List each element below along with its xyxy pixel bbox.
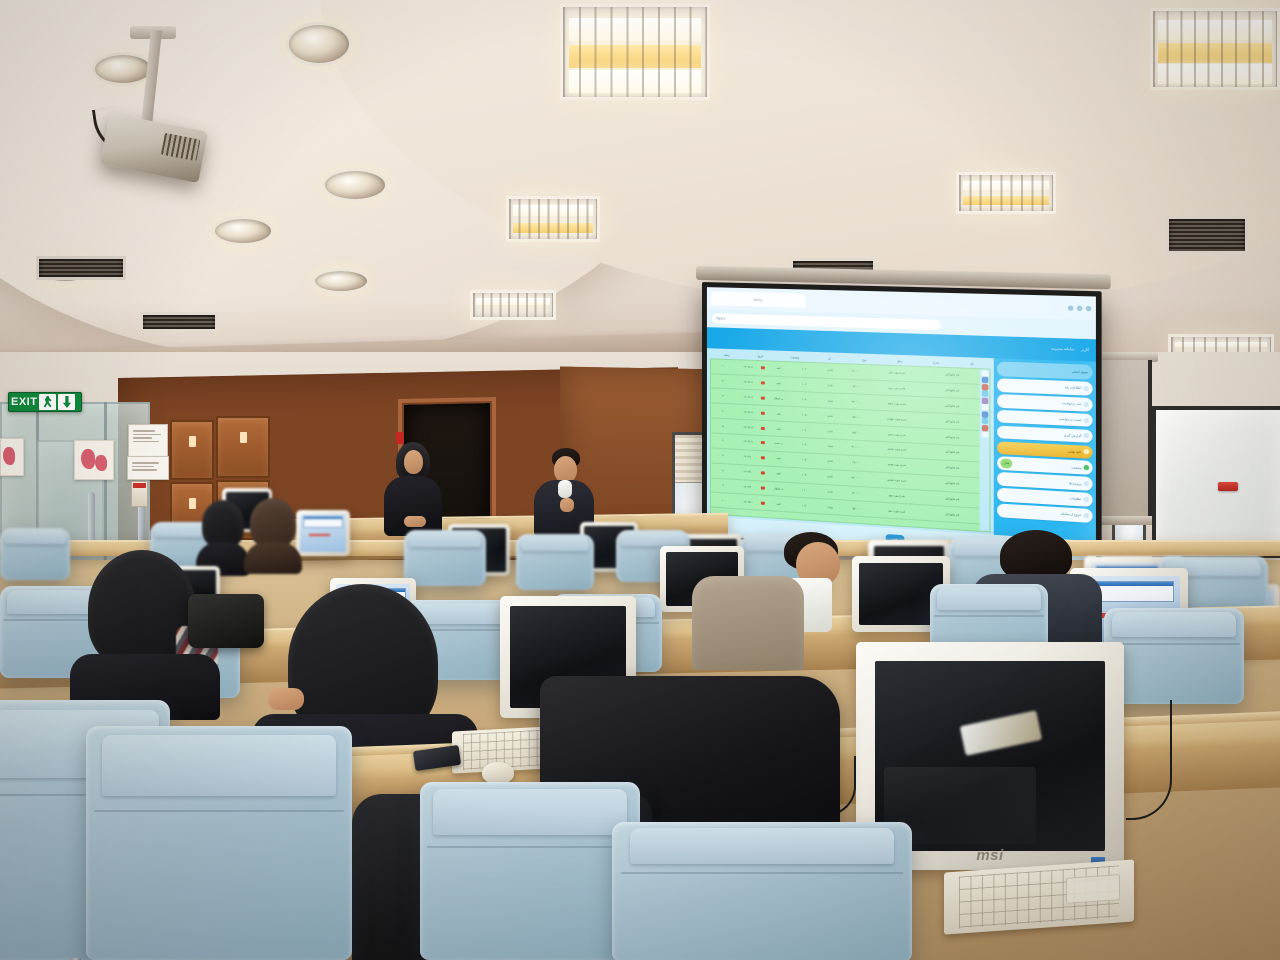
presenter-man-face <box>554 456 577 483</box>
downlight-4 <box>212 216 274 246</box>
history-icon[interactable] <box>981 418 988 425</box>
mouse-center[interactable] <box>482 762 514 784</box>
browser-window-controls[interactable] <box>1068 305 1092 311</box>
app-body: ردیفتاریخوضعیتکدنوعمبلغشرحنام ۱۱۴۰۲/۰۸تا… <box>707 348 1096 542</box>
table-cell: ۱۱۰ <box>792 488 817 493</box>
sidebar-button-icon <box>1084 386 1090 392</box>
chair-back-1[interactable] <box>404 530 486 586</box>
table-cell: شرح مورد اول <box>870 371 924 376</box>
sidebar-button-label: پرونده ها <box>1069 481 1081 486</box>
sidebar-buttons[interactable]: اطلاعات پایهثبت درخواستلیست درخواستگزارش… <box>997 378 1092 541</box>
row-action-icon-column[interactable] <box>980 369 990 532</box>
ceiling-light-panel-5 <box>470 290 556 320</box>
sidebar-button-label: اطلاعات پایه <box>1064 385 1081 390</box>
table-column-header[interactable]: کد <box>813 356 846 361</box>
table-cell: ۱ <box>711 365 735 369</box>
table-cell: عادی <box>818 475 843 479</box>
view-icon[interactable] <box>981 370 988 377</box>
table-cell: ۱۴۰۲/۱۰ <box>736 485 760 489</box>
ceiling-light-panel-2 <box>1150 8 1280 90</box>
table-rows[interactable]: ۱۱۴۰۲/۰۸تایید۱۰۲عادی۱۲۰٬۰۰۰شرح مورد اولن… <box>711 359 980 531</box>
presenter-man-shirt <box>558 480 572 498</box>
table-cell: تایید <box>766 427 791 431</box>
table-cell: تایید <box>766 412 791 416</box>
table-column-header[interactable]: نام <box>955 361 989 366</box>
table-cell: ۱۴۰۲/۰۹ <box>736 440 760 444</box>
table-cell: شرح مورد سوم <box>870 401 924 406</box>
sidebar-button[interactable]: ثبت درخواست <box>997 394 1092 411</box>
presenter-woman-face <box>404 450 423 474</box>
main-projection-screen: سامانه https:// سامانه مدیریت کاربر <box>702 282 1102 567</box>
attach-icon[interactable] <box>981 397 988 404</box>
table-cell: ۹ <box>711 483 735 487</box>
status-marker <box>761 381 765 384</box>
chair-front-center[interactable] <box>86 726 352 960</box>
browser-tab[interactable]: سامانه <box>711 291 805 307</box>
table-cell: تایید <box>766 502 791 507</box>
download-icon[interactable] <box>981 411 988 418</box>
table-cell: ۳ <box>711 394 735 398</box>
app-sidebar[interactable]: منوی اصلی اطلاعات پایهثبت درخواستلیست در… <box>994 358 1096 542</box>
sidebar-button-label: لیست درخواست <box>1059 417 1081 422</box>
data-table[interactable]: ۱۱۴۰۲/۰۸تایید۱۰۲عادی۱۲۰٬۰۰۰شرح مورد اولن… <box>710 358 991 533</box>
table-column-header[interactable]: نوع <box>848 357 881 362</box>
table-cell: شرح مورد هشتم <box>870 477 924 483</box>
presenter-woman <box>382 442 446 534</box>
table-cell: شرح مورد نهم <box>870 493 924 499</box>
table-cell: ۱۴۰۲/۰۸ <box>736 395 760 399</box>
sidebar-button-icon <box>1084 417 1090 423</box>
down-arrow-icon <box>58 394 75 410</box>
table-cell: ۱۱۱ <box>792 503 817 508</box>
air-vent-4 <box>140 312 218 332</box>
table-column-header[interactable]: وضعیت <box>779 354 811 359</box>
downlight-1 <box>286 22 352 66</box>
table-column-header[interactable]: ردیف <box>711 352 743 357</box>
table-column-header[interactable]: مبلغ <box>883 358 917 363</box>
table-cell: ۱۴۰۲/۱۱ <box>736 500 760 505</box>
table-cell: شرح مورد دوم <box>870 386 924 391</box>
table-cell: شرح مورد هفتم <box>870 462 924 468</box>
table-cell: عادی <box>818 384 843 388</box>
table-cell: ۱۲۰٬۰۰۰ <box>844 370 869 374</box>
table-cell: نام خانوادگی <box>925 403 980 408</box>
chair-back-2[interactable] <box>516 534 594 590</box>
status-marker <box>761 426 765 429</box>
app-main-panel: ردیفتاریخوضعیتکدنوعمبلغشرحنام ۱۱۴۰۲/۰۸تا… <box>707 348 994 535</box>
table-cell: ۷۵٬۰۰۰ <box>844 415 869 419</box>
sidebar-button-icon <box>1084 449 1090 455</box>
table-cell: ۱۴۰۲/۱۰ <box>736 455 760 459</box>
minimize-icon[interactable] <box>1068 305 1074 310</box>
print-icon[interactable] <box>981 391 988 398</box>
projector-vent-grille <box>161 133 201 161</box>
table-cell: نام خانوادگی <box>925 419 980 425</box>
sidebar-button[interactable]: خروج از سامانه <box>997 503 1092 522</box>
notice-sheet-2 <box>127 456 169 480</box>
sidebar-button[interactable]: لیست درخواست <box>997 410 1092 428</box>
attendee-woman-3-hijab <box>202 500 244 548</box>
table-cell: نام خانوادگی <box>925 450 980 456</box>
table-cell: ۴۵٬۰۰۰ <box>844 461 869 465</box>
table-cell: ۹۵٬۰۰۰ <box>844 506 869 511</box>
attendee-woman-4-body <box>244 542 302 574</box>
more-icon[interactable] <box>981 431 988 438</box>
sidebar-button-label: گزارش گیری <box>1064 433 1081 438</box>
table-cell: نام خانوادگی <box>925 496 980 502</box>
notice-sheet-1 <box>128 424 168 460</box>
table-cell: نام خانوادگی <box>925 511 980 518</box>
table-column-header[interactable]: شرح <box>919 359 953 364</box>
sidebar-button-icon <box>1084 481 1090 487</box>
table-cell: ۴ <box>711 409 735 413</box>
downlight-3 <box>322 168 388 202</box>
ceiling-light-panel-4 <box>956 172 1056 214</box>
attendee-woman-1-hand <box>268 688 304 710</box>
cabinet-1[interactable] <box>170 420 214 480</box>
air-vent-3 <box>36 256 126 280</box>
table-cell: ۱۴۰۲/۱۰ <box>736 470 760 474</box>
table-cell: ۲۶۰٬۰۰۰ <box>844 476 869 481</box>
table-cell: ۲۳۰٬۰۰۰ <box>844 400 869 404</box>
table-cell: نام خانوادگی <box>925 373 980 378</box>
status-marker <box>761 501 765 504</box>
presenter-woman-hands <box>404 516 426 527</box>
attendee-woman-4-hijab <box>250 498 296 548</box>
sidebar-button-icon <box>1084 465 1090 471</box>
table-cell: شرح مورد پنجم <box>870 432 924 438</box>
table-cell: ۲ <box>711 379 735 383</box>
table-column-header[interactable]: تاریخ <box>745 353 777 358</box>
table-cell: ویژه <box>818 444 843 448</box>
flag-icon[interactable] <box>981 425 988 432</box>
table-cell: ۱۰۴ <box>792 398 817 402</box>
sidebar-button[interactable]: گزارش گیری <box>997 425 1092 443</box>
presenter-man-hand <box>560 498 574 512</box>
table-cell: ویژه <box>818 399 843 403</box>
table-cell: نام خانوادگی <box>925 481 980 487</box>
table-cell: ۱۴۰۲/۰۹ <box>736 425 760 429</box>
sidebar-button-label: تنظیمات <box>1070 497 1081 502</box>
wall-poster-2 <box>0 438 24 476</box>
table-cell: نام خانوادگی <box>925 434 980 440</box>
table-cell: ۱۰۶ <box>792 428 817 432</box>
table-cell: ۱۰۵ <box>792 413 817 417</box>
edit-icon[interactable] <box>981 377 988 384</box>
chair-mid-5[interactable] <box>1104 608 1244 704</box>
attendee-man-jacket <box>692 532 852 668</box>
table-cell: ۱۰۹ <box>792 473 817 477</box>
chair-front-right[interactable] <box>612 822 912 960</box>
table-cell: ۶ <box>711 439 735 443</box>
table-cell: عادی <box>818 414 843 418</box>
sidebar-badge: فعال <box>1000 459 1012 469</box>
status-marker <box>761 486 765 489</box>
table-cell: ویژه <box>818 505 843 510</box>
table-cell: نام خانوادگی <box>925 388 980 393</box>
wall-poster-1 <box>74 440 114 480</box>
chair-front-center-2[interactable] <box>420 782 640 960</box>
desk-cable-2 <box>1126 700 1172 820</box>
sidebar-button-label: خروج از سامانه <box>1061 512 1082 518</box>
table-cell: ۱۰۲ <box>792 368 817 372</box>
whiteboard-eraser[interactable] <box>1218 482 1238 491</box>
table-cell: ۱۴۰۲/۰۸ <box>736 380 760 384</box>
cabinet-3[interactable] <box>216 416 270 478</box>
whiteboard <box>1152 406 1280 558</box>
table-cell: ۷ <box>711 454 735 458</box>
app-header-user[interactable]: کاربر <box>1081 348 1089 353</box>
info-icon[interactable] <box>981 404 988 411</box>
table-cell: نام خانوادگی <box>925 465 980 471</box>
fire-alarm-panel[interactable] <box>131 481 148 507</box>
sidebar-button-label: وضعیت <box>1071 465 1081 470</box>
mouse-pad-label <box>1066 874 1120 904</box>
table-cell: تایید <box>766 457 791 461</box>
status-marker <box>761 471 765 474</box>
status-marker <box>761 411 765 414</box>
screen-reflection <box>960 710 1043 756</box>
air-vent-1 <box>1166 216 1248 254</box>
table-cell: ۱۴۰٬۰۰۰ <box>844 491 869 496</box>
ceiling-light-panel-3 <box>506 196 600 242</box>
table-cell: ۳۱۰٬۰۰۰ <box>844 446 869 450</box>
sidebar-title: منوی اصلی <box>997 361 1092 379</box>
table-cell: ۱۰۳ <box>792 383 817 387</box>
table-cell: عادی <box>818 429 843 433</box>
close-icon[interactable] <box>1086 306 1092 311</box>
table-cell: تایید <box>766 367 791 371</box>
sidebar-button-label: تایید نهایی <box>1068 449 1081 454</box>
table-cell: شرح مورد چهارم <box>870 416 924 422</box>
status-marker <box>761 366 765 369</box>
projected-application[interactable]: سامانه https:// سامانه مدیریت کاربر <box>707 287 1096 562</box>
status-marker <box>761 456 765 459</box>
sidebar-button-icon <box>1084 433 1090 439</box>
table-cell: تایید <box>766 382 791 386</box>
sidebar-button-icon <box>1084 513 1090 519</box>
attendee-man-jacket-coat <box>692 576 804 670</box>
downlight-5 <box>312 268 370 294</box>
attendee-woman-4 <box>244 498 302 570</box>
table-cell: ۹۸٬۰۰۰ <box>844 385 869 389</box>
ceiling-light-panel-1 <box>560 4 710 100</box>
maximize-icon[interactable] <box>1077 305 1083 310</box>
sidebar-button-icon <box>1084 497 1090 503</box>
sidebar-button-label: ثبت درخواست <box>1062 401 1081 406</box>
projection-screen-border: سامانه https:// سامانه مدیریت کاربر <box>702 282 1102 567</box>
table-cell: عادی <box>818 369 843 373</box>
sidebar-button-icon <box>1084 402 1090 408</box>
table-cell: ۵ <box>711 424 735 428</box>
status-marker <box>761 396 765 399</box>
table-cell: در انتظار <box>766 397 791 401</box>
table-cell: ۱۴۰۲/۰۹ <box>736 410 760 414</box>
app-header-title: سامانه مدیریت <box>1051 347 1075 352</box>
exit-sign-label: EXIT <box>11 397 37 408</box>
table-cell: عادی <box>818 459 843 463</box>
table-cell: ۸ <box>711 469 735 473</box>
table-cell: ۱۰۸ <box>792 458 817 462</box>
table-cell: رد شده <box>766 442 791 446</box>
table-cell: ۱۰ <box>711 498 735 502</box>
table-cell: شرح مورد دهم <box>870 508 924 514</box>
table-cell: در انتظار <box>766 487 791 491</box>
table-cell: ۱۸۵٬۰۰۰ <box>844 430 869 434</box>
delete-icon[interactable] <box>981 384 988 391</box>
sidebar-button[interactable]: اطلاعات پایه <box>997 378 1092 395</box>
presenter-woman-body <box>384 476 442 536</box>
table-cell: ۱۰۷ <box>792 443 817 447</box>
table-cell: عادی <box>818 490 843 495</box>
table-cell: ۱۴۰۲/۰۸ <box>736 365 760 369</box>
table-cell: شرح مورد ششم <box>870 447 924 453</box>
classroom-photo: EXIT سامانه <box>0 0 1280 960</box>
running-man-icon <box>39 394 56 410</box>
monitor-back-2[interactable] <box>296 510 350 556</box>
handbag-on-desk[interactable] <box>188 594 264 648</box>
chair-back-8[interactable] <box>0 528 70 580</box>
table-cell: تایید <box>766 472 791 476</box>
exit-sign: EXIT <box>8 392 82 412</box>
status-marker <box>761 441 765 444</box>
msi-logo-foreground: msi <box>976 847 1003 864</box>
